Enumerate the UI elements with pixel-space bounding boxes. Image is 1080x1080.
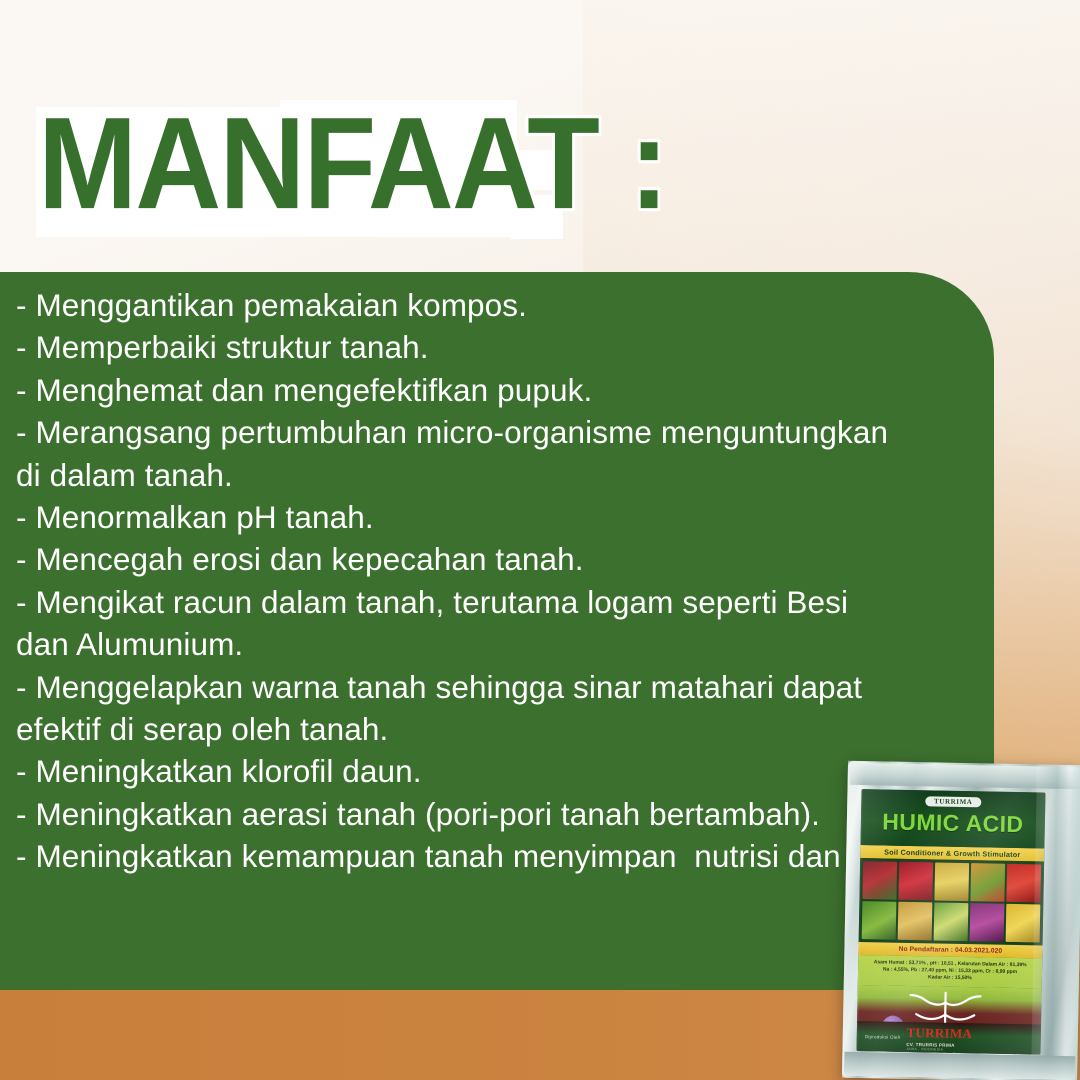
crop-photo-cell	[970, 903, 1005, 942]
crop-photo-cell	[862, 901, 897, 940]
crop-photo-cell	[862, 861, 897, 900]
list-item: - Meningkatkan klorofil daun.	[16, 750, 896, 792]
list-item: - Meningkatkan kemampuan tanah menyimpan…	[16, 835, 896, 877]
crop-photo-cell	[1006, 904, 1041, 943]
list-item: - Meningkatkan aerasi tanah (pori-pori t…	[16, 793, 896, 835]
list-item: - Menghemat dan mengefektifkan pupuk.	[16, 369, 896, 411]
crop-photo-cell	[934, 862, 969, 901]
list-item: - Mencegah erosi dan kepecahan tanah.	[16, 538, 896, 580]
poster-canvas: MANFAAT : - Menggantikan pemakaian kompo…	[0, 0, 1080, 1080]
package-bottom-seal	[844, 1052, 1075, 1080]
page-title-text: MANFAAT :	[38, 100, 667, 229]
list-item: - Memperbaiki struktur tanah.	[16, 326, 896, 368]
package-product-name: HUMIC ACID	[861, 809, 1045, 838]
package-maker-origin: JAWA - INDONESIA	[906, 1046, 972, 1051]
crop-photo-cell	[1006, 864, 1041, 903]
crop-photo-cell	[898, 902, 933, 941]
crop-photo-cell	[898, 862, 933, 901]
package-made-by-label: Diproduksi Oleh	[865, 1034, 901, 1040]
list-item: - Mengikat racun dalam tanah, terutama l…	[16, 581, 896, 666]
list-item: - Menormalkan pH tanah.	[16, 496, 896, 538]
package-top-seal	[850, 763, 1080, 789]
product-package-image: TURRIMA HUMIC ACID Soil Conditioner & Gr…	[842, 761, 1080, 1080]
package-crop-photo-grid	[859, 858, 1045, 946]
list-item: - Menggelapkan warna tanah sehingga sina…	[16, 666, 896, 751]
package-brand-chip: TURRIMA	[925, 796, 982, 807]
package-maker-block: TURRIMA CV. TRURRIS PRIMA JAWA - INDONES…	[906, 1023, 972, 1051]
package-maker-name: TURRIMA	[906, 1024, 972, 1040]
list-item: - Merangsang pertumbuhan micro-organisme…	[16, 411, 896, 496]
benefits-list: - Menggantikan pemakaian kompos. - Mempe…	[16, 284, 896, 878]
page-title: MANFAAT :	[38, 100, 1080, 240]
list-item: - Menggantikan pemakaian kompos.	[16, 284, 896, 326]
crop-photo-cell	[934, 902, 969, 941]
package-specifications: Asam Humat : 53,71% , pH : 10,51 , Kelar…	[858, 955, 1043, 989]
package-footer: Diproduksi Oleh TURRIMA CV. TRURRIS PRIM…	[856, 1021, 1041, 1055]
crop-photo-cell	[970, 863, 1005, 902]
package-label: TURRIMA HUMIC ACID Soil Conditioner & Gr…	[856, 789, 1045, 1054]
package-header: TURRIMA HUMIC ACID	[860, 789, 1045, 849]
